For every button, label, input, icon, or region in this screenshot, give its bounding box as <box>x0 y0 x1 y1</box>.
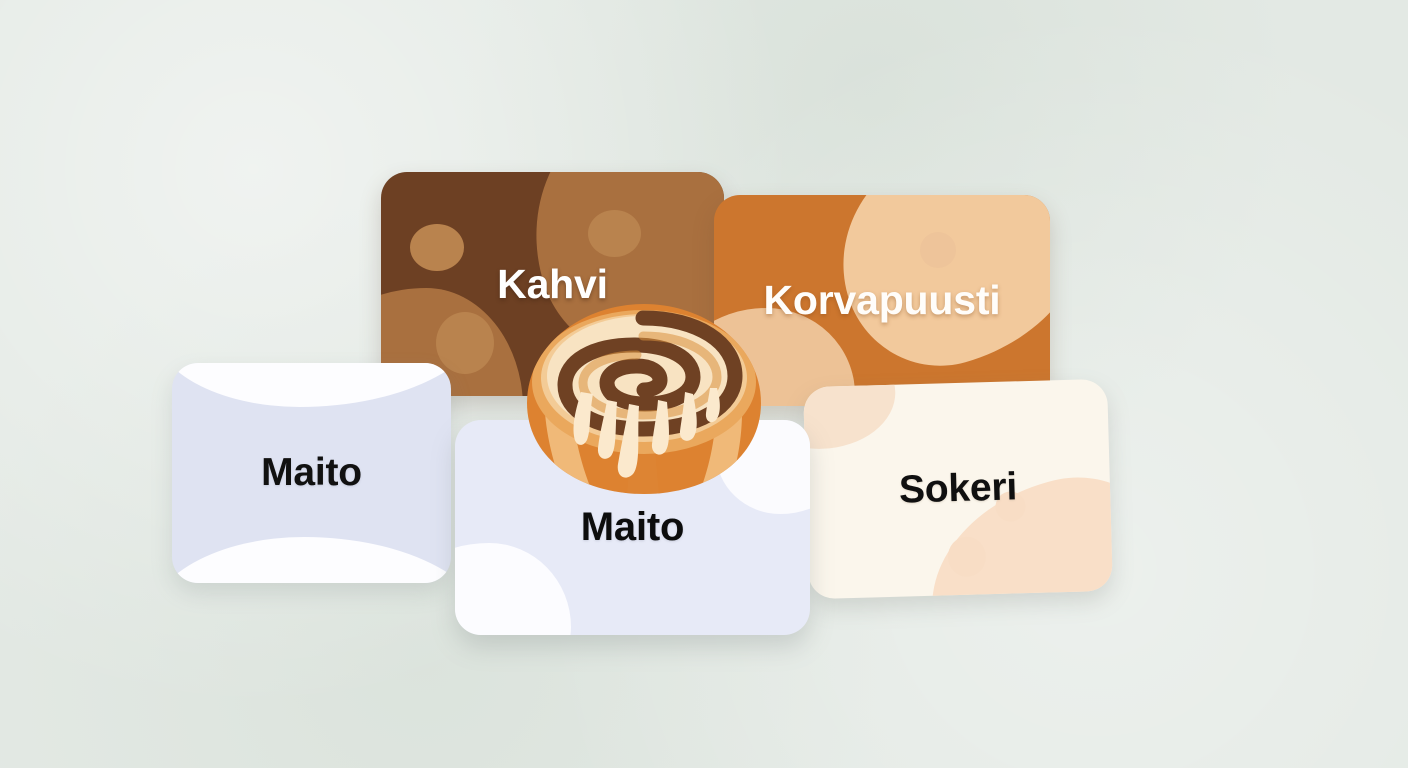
card-label-maito-left: Maito <box>261 451 362 495</box>
card-label-korvapuusti: Korvapuusti <box>764 277 1001 324</box>
card-label-kahvi: Kahvi <box>497 261 608 308</box>
card-maito-center[interactable]: Maito <box>455 420 810 635</box>
card-maito-left[interactable]: Maito <box>172 363 451 583</box>
sokeri-blob-top-left <box>803 379 897 451</box>
maito-center-blob-bottom-left <box>455 543 571 635</box>
maito-left-wave-top <box>172 363 451 407</box>
kahvi-bean-dot-1 <box>410 224 464 271</box>
kahvi-bean-dot-2 <box>588 210 641 257</box>
card-sokeri[interactable]: Sokeri <box>803 379 1113 599</box>
card-label-maito-center: Maito <box>581 505 684 550</box>
scene-canvas: Kahvi Korvapuusti Maito Sokeri Maito <box>0 0 1408 768</box>
maito-center-blob-top-right <box>716 420 810 514</box>
korvapuusti-dot <box>920 232 956 268</box>
card-korvapuusti[interactable]: Korvapuusti <box>714 195 1050 406</box>
card-label-sokeri: Sokeri <box>898 465 1017 512</box>
maito-left-wave-bottom <box>172 537 451 583</box>
